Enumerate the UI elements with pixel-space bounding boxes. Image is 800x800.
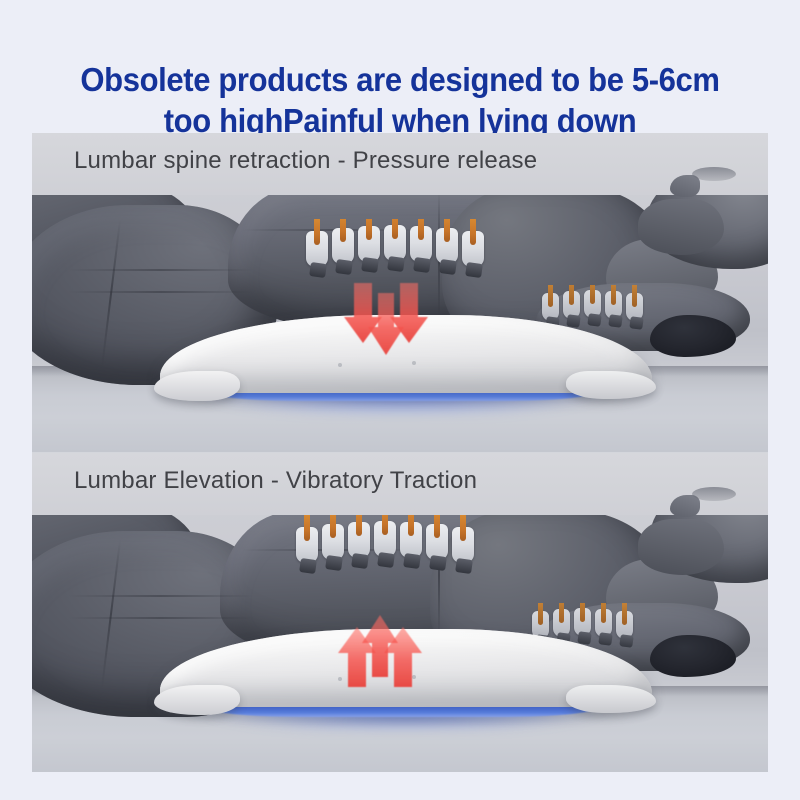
nerve-root: [304, 515, 310, 541]
hand-shape: [650, 635, 736, 677]
pressure-arrows-down-icon: [338, 281, 434, 357]
device-foot-left: [154, 685, 240, 715]
hand-shape: [650, 315, 736, 357]
lumbar-spine-cutaway: [294, 515, 480, 607]
page-title: Obsolete products are designed to be 5-6…: [24, 18, 776, 141]
nerve-root: [580, 603, 585, 622]
nerve-root: [340, 219, 346, 242]
intervertebral-disc: [325, 555, 343, 571]
nerve-root: [559, 603, 564, 623]
nerve-root: [538, 603, 543, 625]
nerve-root: [470, 219, 476, 245]
nerve-root: [330, 515, 336, 538]
intervertebral-disc: [377, 552, 395, 568]
panel-lumbar-retraction: Lumbar spine retraction - Pressure relea…: [32, 133, 768, 452]
intervertebral-disc: [403, 553, 421, 569]
intervertebral-disc: [465, 262, 483, 278]
intervertebral-disc: [429, 555, 447, 571]
nerve-root: [382, 515, 388, 535]
nerve-root: [434, 515, 440, 538]
nerve-root: [590, 285, 595, 304]
nerve-root: [460, 515, 466, 541]
pressure-arrows-up-icon: [332, 613, 428, 689]
intervertebral-disc: [351, 553, 369, 569]
nerve-root: [356, 515, 362, 536]
intervertebral-disc: [413, 257, 431, 273]
nerve-root: [569, 285, 574, 305]
panel-label-lumbar-elevation: Lumbar Elevation - Vibratory Traction: [74, 467, 477, 495]
panel-lumbar-elevation: Lumbar Elevation - Vibratory Traction: [32, 453, 768, 772]
intervertebral-disc: [299, 558, 317, 574]
nerve-root: [601, 603, 606, 623]
jaw-shape: [638, 519, 724, 575]
fabric-fold: [68, 617, 254, 619]
device-vent: [338, 363, 342, 367]
panel-stack: Lumbar spine retraction - Pressure relea…: [32, 133, 768, 772]
device-vent: [412, 361, 416, 365]
nerve-root: [418, 219, 424, 240]
nose-shape: [670, 495, 700, 517]
nerve-root: [408, 515, 414, 536]
nerve-root: [444, 219, 450, 242]
jaw-shape: [638, 199, 724, 255]
nose-shape: [670, 175, 700, 197]
page-title-line-1: Obsolete products are designed to be 5-6…: [80, 61, 719, 98]
nerve-root: [632, 285, 637, 307]
intervertebral-disc: [455, 558, 473, 574]
device-foot-left: [154, 371, 240, 401]
nerve-root: [314, 219, 320, 245]
intervertebral-disc: [387, 256, 405, 272]
nerve-root: [548, 285, 553, 307]
nerve-root: [622, 603, 627, 625]
fabric-fold: [68, 595, 254, 597]
intervertebral-disc: [309, 262, 327, 278]
panel-label-lumbar-retraction: Lumbar spine retraction - Pressure relea…: [74, 147, 537, 175]
brow-shape: [692, 167, 736, 181]
nerve-root: [611, 285, 616, 305]
fabric-fold: [68, 269, 254, 271]
nerve-root: [366, 219, 372, 240]
device-foot-right: [566, 371, 656, 399]
brow-shape: [692, 487, 736, 501]
fabric-fold: [68, 291, 254, 293]
product-feature-image: Obsolete products are designed to be 5-6…: [0, 0, 800, 800]
intervertebral-disc: [439, 259, 457, 275]
vertebra-row: [294, 515, 480, 591]
device-foot-right: [566, 685, 656, 713]
intervertebral-disc: [361, 257, 379, 273]
nerve-root: [392, 219, 398, 239]
intervertebral-disc: [335, 259, 353, 275]
